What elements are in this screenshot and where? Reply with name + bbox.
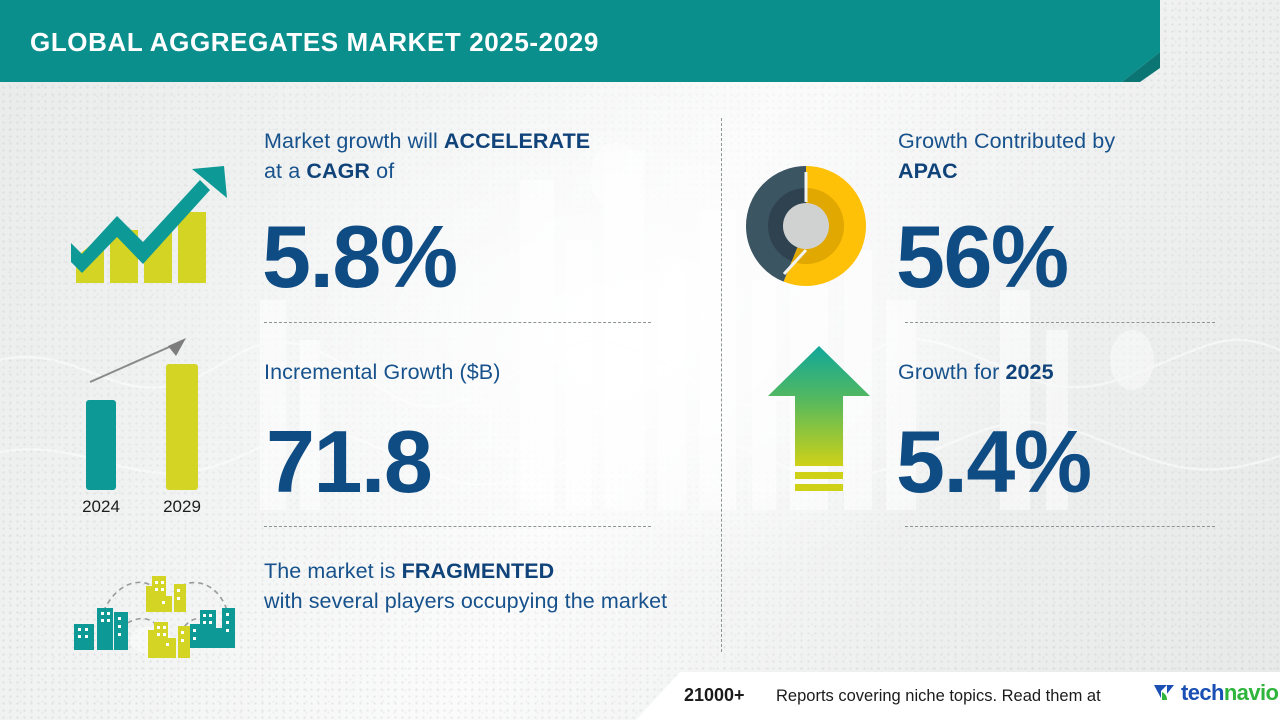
footer-bar: 21000+ Reports covering niche topics. Re… bbox=[636, 672, 1280, 720]
growth-chart-icon bbox=[64, 142, 234, 294]
technavio-logo[interactable]: technavio™ bbox=[1152, 680, 1280, 706]
right-divider-1 bbox=[905, 322, 1215, 323]
incremental-growth-caption: Incremental Growth ($B) bbox=[264, 357, 664, 387]
reports-count: 21000+ bbox=[684, 685, 745, 706]
footer-tagline: Reports covering niche topics. Read them… bbox=[776, 687, 1101, 706]
donut-chart-icon bbox=[744, 164, 868, 288]
cagr-caption-post: of bbox=[370, 159, 394, 183]
growth-2025-caption-bold: 2025 bbox=[1005, 360, 1053, 384]
incremental-growth-value: 71.8 bbox=[266, 418, 431, 506]
fragmentation-caption-bold: FRAGMENTED bbox=[402, 559, 555, 583]
infographic-page: GLOBAL AGGREGATES MARKET 2025-2029 Marke… bbox=[0, 0, 1280, 720]
growth-2025-caption: Growth for 2025 bbox=[898, 357, 1218, 387]
cagr-caption-mid: at a bbox=[264, 159, 306, 183]
apac-caption-pre: Growth Contributed by bbox=[898, 126, 1218, 156]
buildings-network-icon bbox=[62, 562, 254, 666]
cagr-caption: Market growth will ACCELERATE at a CAGR … bbox=[264, 126, 664, 186]
apac-caption: Growth Contributed by APAC bbox=[898, 126, 1218, 186]
fragmentation-caption-pre: The market is bbox=[264, 559, 402, 583]
left-divider-1 bbox=[264, 322, 651, 323]
cagr-caption-pre: Market growth will bbox=[264, 129, 444, 153]
cagr-caption-bold-accelerate: ACCELERATE bbox=[444, 129, 590, 153]
apac-value: 56% bbox=[896, 213, 1068, 301]
bar-label-2024: 2024 bbox=[82, 497, 120, 516]
fragmentation-caption-post: with several players occupying the marke… bbox=[264, 586, 684, 616]
left-divider-2 bbox=[264, 526, 651, 527]
apac-caption-bold: APAC bbox=[898, 159, 958, 183]
bar-label-2029: 2029 bbox=[163, 497, 201, 516]
bar-comparison-icon: 2024 2029 bbox=[68, 332, 228, 517]
logo-text-navio: navio bbox=[1224, 680, 1278, 705]
page-title: GLOBAL AGGREGATES MARKET 2025-2029 bbox=[30, 27, 599, 58]
technavio-mark-icon bbox=[1152, 680, 1178, 706]
growth-2025-caption-pre: Growth for bbox=[898, 360, 1005, 384]
fragmentation-caption: The market is FRAGMENTED with several pl… bbox=[264, 556, 684, 616]
column-divider bbox=[721, 118, 722, 652]
cagr-value: 5.8% bbox=[262, 213, 457, 301]
cagr-caption-bold-cagr: CAGR bbox=[306, 159, 370, 183]
growth-2025-value: 5.4% bbox=[896, 418, 1091, 506]
up-arrow-icon: <గ/> bbox=[764, 344, 874, 504]
right-divider-2 bbox=[905, 526, 1215, 527]
logo-text-tech: tech bbox=[1181, 680, 1224, 705]
